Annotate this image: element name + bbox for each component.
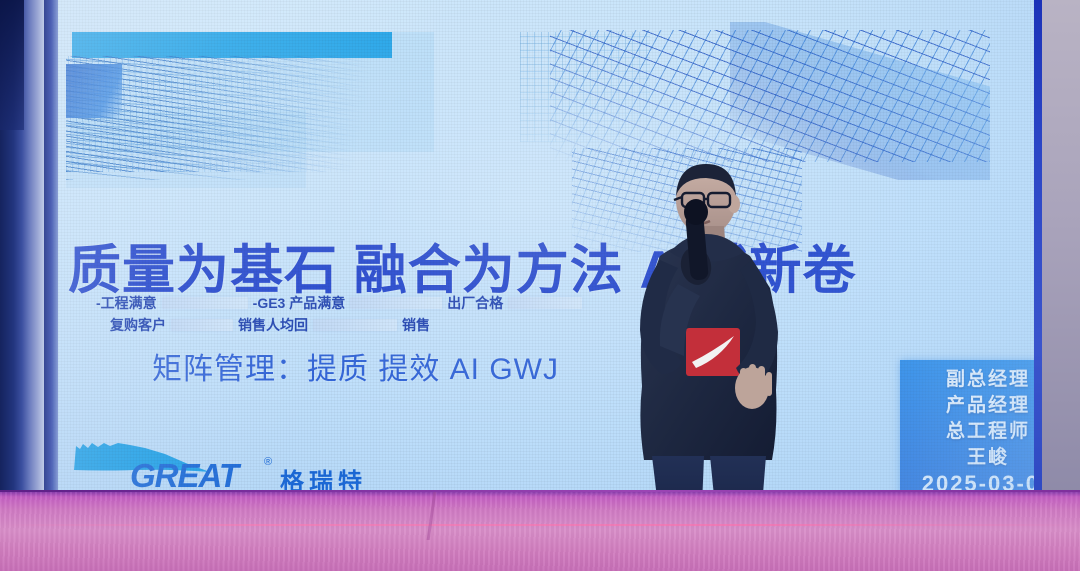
speaker-info-box: 副总经理 产品经理 总工程师 王峻 2025-03-02 [900,360,1034,497]
metric-label: 复购客户 [110,314,166,336]
screen-left-bezel-strip [44,0,58,500]
redacted-value [350,297,442,309]
speaker-title-line: 产品经理 [900,393,1034,419]
top-left-shadow [0,0,24,130]
company-logo: GREAT ® 格瑞特 [68,440,368,496]
metric-label: -工程满意 [96,292,157,314]
redacted-value [171,319,233,331]
metric-label: 销售 [402,314,430,336]
speaker-title-line: 副总经理 [900,367,1034,393]
slide-tagline: 矩阵管理：提质 提效 AI GWJ [152,344,559,388]
building-facade-left-art [66,30,436,208]
metric-label: -GE3 产品满意 [253,292,346,314]
stage-photo-scene: 质量为基石 融合为方法 AI赋新卷 -工程满意-GE3 产品满意出厂合格 复购客… [0,0,1080,571]
room-wall-right [1038,0,1080,497]
speaker-name: 王峻 [900,445,1034,471]
redacted-value [162,297,248,309]
metric-label: 出厂合格 [447,292,503,314]
speaker-title-line: 总工程师 [900,419,1034,445]
redacted-value [313,319,397,331]
stage-floor [0,492,1080,571]
led-screen: 质量为基石 融合为方法 AI赋新卷 -工程满意-GE3 产品满意出厂合格 复购客… [52,0,1034,497]
metric-label: 销售人均回 [238,314,308,336]
redacted-value [508,297,582,309]
registered-trademark-icon: ® [264,456,272,468]
